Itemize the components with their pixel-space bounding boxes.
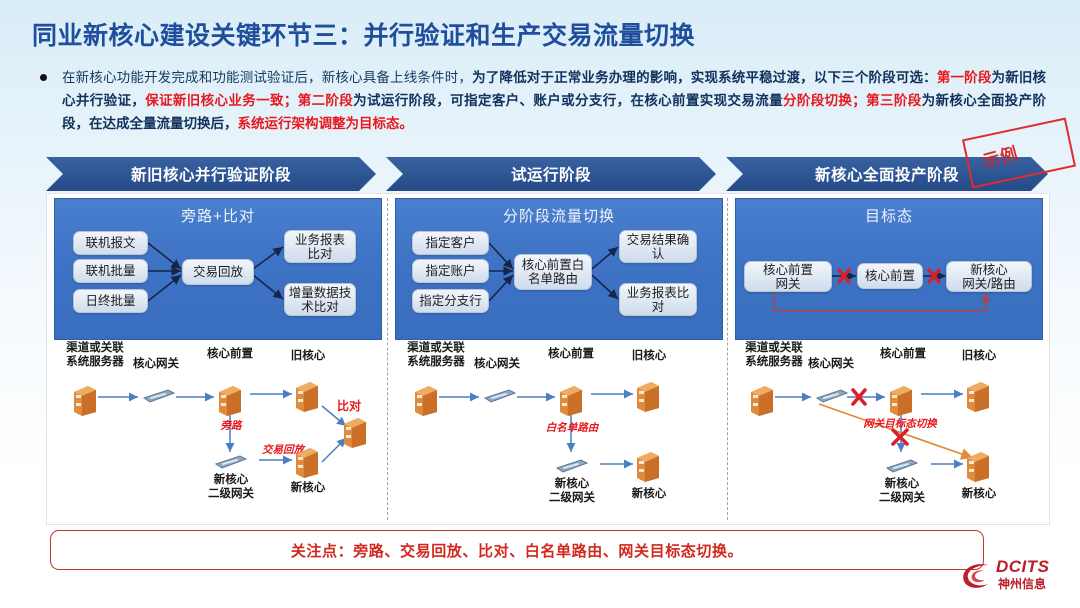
panel-1-gateway-icon [142,388,176,404]
panel-1-output-2[interactable]: 增量数据技 术比对 [284,283,356,316]
panel-2-server-old-core-icon [635,380,661,412]
bullet-seg-phase3: 第三阶段 [866,93,922,108]
panel-1-output-1[interactable]: 业务报表 比对 [284,230,356,263]
panel-1-input-1[interactable]: 联机报文 [73,231,148,255]
bullet-seg-1: 在新核心功能开发完成和功能测试验证后，新核心具备上线条件时， [62,70,472,85]
panel-1-server-source-icon [72,384,98,416]
panel-2-topology: 渠道或关联 系统服务器 核心网关 核心前置 旧核心 白名单路由 新核心 二级网关… [395,342,721,520]
panel-3-label-sub-gateway: 新核心 二级网关 [865,478,939,505]
panel-2-input-2[interactable]: 指定账户 [412,259,489,283]
footer-note-text: 关注点：旁路、交易回放、比对、白名单路由、网关目标态切换。 [291,540,743,561]
panel-2-box-title: 分阶段流量切换 [396,205,722,226]
panel-1-input-3[interactable]: 日终批量 [73,289,148,313]
panel-2-input-3[interactable]: 指定分支行 [412,289,489,313]
bullet-seg-6: 保证新旧核心业务一致； [145,93,297,108]
panel-3-label-new-core: 新核心 [953,488,1005,502]
panel-1-label-new-core: 新核心 [282,482,334,496]
panel-3-server-new-core-icon [965,450,991,482]
phase-banner-row: 新旧核心并行验证阶段 试运行阶段 新核心全面投产阶段 [46,157,1048,191]
panel-1-middle-node[interactable]: 交易回放 [182,259,254,285]
panel-1-label-source: 渠道或关联 系统服务器 [56,342,134,369]
panel-2-server-new-core-icon [635,450,661,482]
panel-2-output-2[interactable]: 业务报表比 对 [619,283,697,316]
phase-banner-2[interactable]: 试运行阶段 [386,157,716,191]
panel-2-label-front: 核心前置 [539,348,603,362]
slide-root: 同业新核心建设关键环节三：并行验证和生产交易流量切换 在新核心功能开发完成和功能… [0,0,1080,608]
panel-3-chain-node-1[interactable]: 核心前置 网关 [744,261,832,292]
panel-3-label-old-core: 旧核心 [953,350,1005,364]
panel-1-flow-box: 旁路+比对 联机报文 联机批量 日终批量 交易回放 业务报表 比对 增量数据技 … [54,198,382,340]
panel-divider-2 [727,198,728,520]
company-logo: DCITS 神州信息 [958,556,1070,598]
panel-1-topology: 渠道或关联 系统服务器 核心网关 核心前置 旧核心 旁路 新核心 二级网关 交易… [54,342,380,520]
panel-2-server-front-icon [558,384,584,416]
bullet-seg-12: 系统运行架构调整为目标态。 [238,116,414,131]
panel-1-label-compare: 比对 [326,400,372,414]
panel-2-flow-box: 分阶段流量切换 指定客户 指定账户 指定分支行 核心前置白 名单路由 交易结果确… [395,198,723,340]
panel-3-box-title: 目标态 [736,205,1042,226]
panel-3-server-old-core-icon [965,380,991,412]
panel-3-sub-gateway-icon [885,458,919,474]
panel-1-box-title: 旁路+比对 [55,205,381,226]
phase-banner-1[interactable]: 新旧核心并行验证阶段 [46,157,376,191]
logo-main-text: DCITS [996,557,1050,577]
panel-3-label-gateway: 核心网关 [801,358,861,372]
stamp-label: 示例 [979,139,1020,172]
panel-divider-1 [387,198,388,520]
panel-3-server-front-icon [888,384,914,416]
panel-1-label-front: 核心前置 [198,348,262,362]
panel-1-server-new-core-icon [294,446,320,478]
panel-1-label-sub-gateway: 新核心 二级网关 [194,474,268,501]
panel-3-gateway-icon [815,388,849,404]
panel-1-sub-gateway-icon [214,454,248,470]
bullet-seg-3: 以下三个阶段可选： [814,70,937,85]
panel-3-flow-box: 目标态 核心前置 网关 核心前置 新核心 网关/路由 [735,198,1043,340]
panel-3-label-front: 核心前置 [871,348,935,362]
bullet-seg-phase2: 第二阶段 [297,93,353,108]
panel-3-chain-node-2[interactable]: 核心前置 [857,263,923,289]
panel-2-sub-gateway-icon [555,458,589,474]
panel-1-label-bypass: 旁路 [204,420,258,434]
content-card: 旁路+比对 联机报文 联机批量 日终批量 交易回放 业务报表 比对 增量数据技 … [46,193,1050,525]
panel-2-label-source: 渠道或关联 系统服务器 [397,342,475,369]
panel-2-input-1[interactable]: 指定客户 [412,231,489,255]
panel-1-server-old-core-icon [294,380,320,412]
panel-1-server-compare-icon [342,416,368,448]
panel-1-server-front-icon [217,384,243,416]
panel-2-middle-node[interactable]: 核心前置白 名单路由 [514,254,592,290]
bullet-text-body: 在新核心功能开发完成和功能测试验证后，新核心具备上线条件时，为了降低对于正常业务… [62,66,1046,135]
panel-1-label-old-core: 旧核心 [282,350,334,364]
panel-2-label-old-core: 旧核心 [623,350,675,364]
panel-2-label-new-core: 新核心 [623,488,675,502]
bullet-seg-9: 分阶段切换； [783,93,866,108]
panel-3-server-source-icon [749,384,775,416]
panel-2-gateway-icon [483,388,517,404]
bullet-seg-2: 为了降低对于正常业务办理的影响，实现系统平稳过渡， [472,70,814,85]
bullet-seg-8: 为试运行阶段，可指定客户、账户或分支行，在核心前置实现交易流量 [353,93,783,108]
panel-2-label-whitelist: 白名单路由 [533,422,611,436]
logo-sub-text: 神州信息 [998,575,1046,592]
panel-3-topology: 渠道或关联 系统服务器 核心网关 核心前置 旧核心 网关目标态切换 新核心 二级… [735,342,1041,520]
footer-note-box: 关注点：旁路、交易回放、比对、白名单路由、网关目标态切换。 [50,530,984,570]
bullet-dot-icon [40,74,47,81]
panel-3-chain-node-3[interactable]: 新核心 网关/路由 [946,261,1032,292]
panel-1-input-2[interactable]: 联机批量 [73,259,148,283]
panel-2-server-source-icon [413,384,439,416]
page-title: 同业新核心建设关键环节三：并行验证和生产交易流量切换 [32,16,695,52]
dcits-mark-icon [958,559,994,593]
panel-3-label-gateway-switch: 网关目标态切换 [845,418,955,432]
panel-2-label-gateway: 核心网关 [467,358,527,372]
panel-1-label-gateway: 核心网关 [126,358,186,372]
bullet-seg-phase1: 第一阶段 [937,70,992,85]
panel-2-output-1[interactable]: 交易结果确 认 [619,230,697,263]
panel-2-label-sub-gateway: 新核心 二级网关 [535,478,609,505]
bullet-paragraph: 在新核心功能开发完成和功能测试验证后，新核心具备上线条件时，为了降低对于正常业务… [36,66,1046,135]
